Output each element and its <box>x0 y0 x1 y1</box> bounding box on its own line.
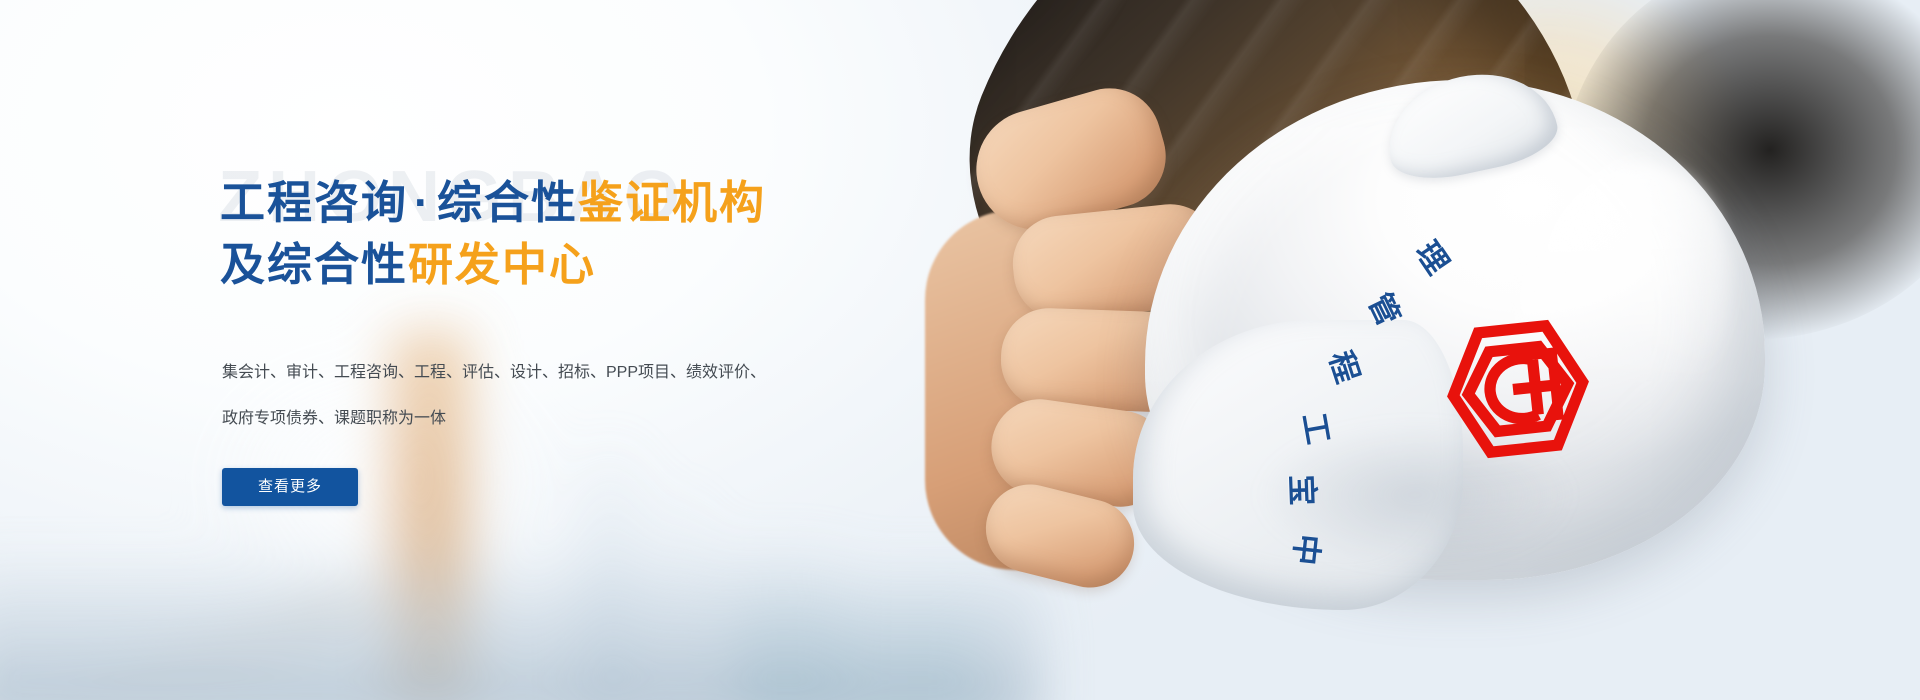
headline-line-2: 及综合性研发中心 <box>220 234 900 296</box>
safety-helmet: 理 管 程 工 宝 中 <box>1085 70 1775 630</box>
helmet-char-0: 理 <box>1407 231 1462 283</box>
description-line-2: 政府专项债券、课题职称为一体 <box>222 396 822 442</box>
view-more-button[interactable]: 查看更多 <box>222 468 358 506</box>
headline-seg-blue-2: 综合性 <box>437 177 578 228</box>
headline-seg-orange-2: 研发中心 <box>408 239 596 290</box>
helmet-brand-text: 理 管 程 工 宝 中 <box>1203 220 1533 580</box>
headline-seg-orange-1: 鉴证机构 <box>578 177 766 228</box>
headline-seg-blue-1: 工程咨询 <box>220 177 408 228</box>
helmet-char-2: 程 <box>1321 344 1374 388</box>
helmet-char-1: 管 <box>1360 284 1414 332</box>
helmet-char-5: 中 <box>1285 532 1333 569</box>
helmet-char-3: 工 <box>1294 409 1344 448</box>
headline-line-1: 工程咨询·综合性鉴证机构 <box>220 172 900 234</box>
headline-seg-blue-3: 及综合性 <box>220 239 408 290</box>
hero-description: 集会计、审计、工程咨询、工程、评估、设计、招标、PPP项目、绩效评价、 政府专项… <box>222 350 822 442</box>
ground-haze <box>0 550 1040 700</box>
helmet-char-4: 宝 <box>1282 474 1328 508</box>
hero-copy-block: ZHONGBAO 工程咨询·综合性鉴证机构 及综合性研发中心 集会计、审计、工程… <box>220 120 900 506</box>
headline-separator: · <box>408 177 437 228</box>
page-title: 工程咨询·综合性鉴证机构 及综合性研发中心 <box>220 172 900 296</box>
description-line-1: 集会计、审计、工程咨询、工程、评估、设计、招标、PPP项目、绩效评价、 <box>222 350 822 396</box>
hero-banner: 理 管 程 工 宝 中 ZHONGBAO 工程咨询·综合性鉴证机构 及综合性研发… <box>0 0 1920 700</box>
